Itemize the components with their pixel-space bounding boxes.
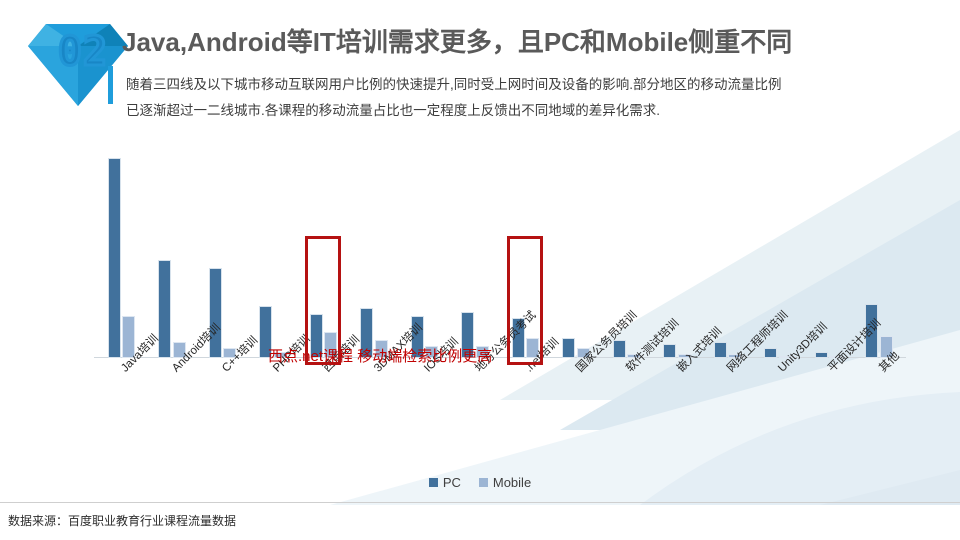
chart-legend: PCMobile bbox=[0, 475, 960, 490]
bar-group bbox=[551, 158, 602, 358]
bar-pc bbox=[714, 342, 727, 358]
bar-group bbox=[147, 158, 198, 358]
bar-group bbox=[349, 158, 400, 358]
highlight-box-西点培训 bbox=[305, 236, 341, 365]
legend-swatch-icon bbox=[429, 478, 438, 487]
subtitle-line-1: 随着三四线及以下城市移动互联网用户比例的快速提升,同时受上网时间及设备的影响.部… bbox=[126, 72, 926, 98]
bar-group bbox=[450, 158, 501, 358]
section-number-badge: 02 bbox=[24, 6, 132, 118]
bar-pc bbox=[108, 158, 121, 358]
subtitle-line-2: 已逐渐超过一二线城市.各课程的移动流量占比也一定程度上反馈出不同地域的差异化需求… bbox=[126, 98, 926, 124]
legend-label: PC bbox=[443, 475, 461, 490]
bar-pc bbox=[815, 352, 828, 358]
bar-pc bbox=[764, 348, 777, 358]
bar-pc bbox=[209, 268, 222, 358]
page-subtitle: 随着三四线及以下城市移动互联网用户比例的快速提升,同时受上网时间及设备的影响.部… bbox=[126, 72, 926, 124]
bar-group bbox=[248, 158, 299, 358]
title-accent-rule bbox=[108, 66, 113, 104]
bar-pc bbox=[562, 338, 575, 358]
bar-chart: Java培训Android培训C++培训PHP培训西点培训3DMAX培训IOS培… bbox=[0, 140, 960, 520]
highlight-box-.net培训 bbox=[507, 236, 543, 365]
legend-label: Mobile bbox=[493, 475, 531, 490]
page-title: Java,Android等IT培训需求更多，且PC和Mobile侧重不同 bbox=[122, 22, 792, 59]
slide-root: 02 Java,Android等IT培训需求更多，且PC和Mobile侧重不同 … bbox=[0, 0, 960, 540]
bar-pc bbox=[663, 344, 676, 358]
data-source-note: 数据来源：百度职业教育行业课程流量数据 bbox=[8, 512, 236, 529]
section-number: 02 bbox=[24, 6, 132, 98]
footer-divider bbox=[0, 502, 960, 503]
legend-item-pc[interactable]: PC bbox=[429, 475, 461, 490]
legend-swatch-icon bbox=[479, 478, 488, 487]
legend-item-mobile[interactable]: Mobile bbox=[479, 475, 531, 490]
callout-annotation-text: 西点.net课程 移动端检索比例更高 bbox=[268, 345, 492, 366]
bar-group bbox=[96, 158, 147, 358]
